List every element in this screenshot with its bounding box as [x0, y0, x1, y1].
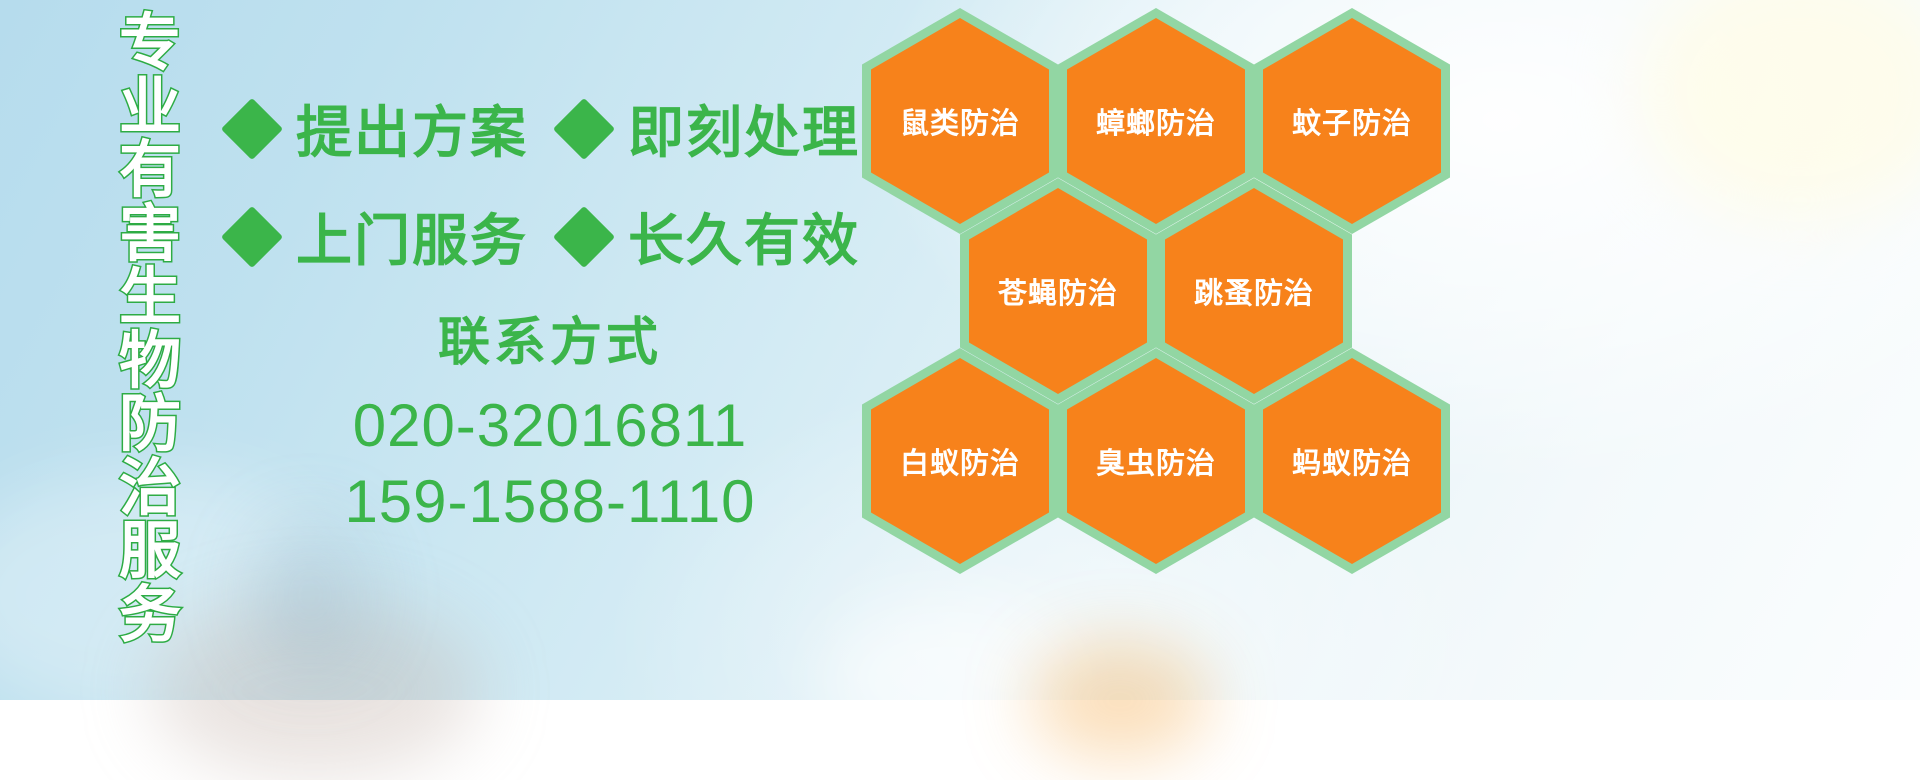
headline-char: 害: [119, 203, 181, 267]
service-label: 苍蝇防治: [998, 270, 1118, 312]
diamond-icon: [553, 205, 615, 267]
service-label: 蚂蚁防治: [1292, 440, 1412, 482]
headline-char: 防: [119, 393, 181, 457]
diamond-icon: [221, 97, 283, 159]
headline-char: 服: [119, 520, 181, 584]
service-label: 鼠类防治: [900, 100, 1020, 142]
phone-number-mobile[interactable]: 159-1588-1110: [300, 464, 800, 540]
feature-label: 即刻处理: [628, 88, 860, 169]
headline-char: 业: [119, 76, 181, 140]
background-blur-blob: [1640, 0, 1920, 220]
promotional-banner: 专 业 有 害 生 物 防 治 服 务 提出方案 即刻处理 上门服务 长久有效: [0, 0, 1920, 700]
feature-item: 长久有效: [562, 196, 860, 277]
headline-char: 务: [119, 584, 181, 648]
phone-number-landline[interactable]: 020-32016811: [300, 388, 800, 464]
service-label: 跳蚤防治: [1194, 270, 1314, 312]
service-label: 臭虫防治: [1096, 440, 1216, 482]
background-blur-blob: [1030, 640, 1210, 760]
headline-char: 生: [119, 266, 181, 330]
contact-block: 联系方式 020-32016811 159-1588-1110: [300, 312, 800, 540]
background-blur-blob: [820, 600, 1080, 760]
feature-item: 提出方案: [230, 88, 528, 169]
headline-char: 物: [119, 330, 181, 394]
service-hexagon-grid: 鼠类防治 蟑螂防治 蚊子防治 苍蝇防治 跳蚤防治 白蚁防治 臭虫防治 蚂蚁防治: [862, 8, 1462, 560]
headline-char: 有: [119, 139, 181, 203]
headline-char: 治: [119, 457, 181, 521]
service-label: 蚊子防治: [1292, 100, 1412, 142]
diamond-icon: [553, 97, 615, 159]
contact-heading: 联系方式: [300, 312, 800, 374]
diamond-icon: [221, 205, 283, 267]
feature-item: 上门服务: [230, 196, 528, 277]
feature-label: 上门服务: [296, 196, 528, 277]
service-label: 白蚁防治: [900, 440, 1020, 482]
background-blur-blob: [250, 520, 370, 670]
feature-label: 长久有效: [628, 196, 860, 277]
feature-item: 即刻处理: [562, 88, 860, 169]
vertical-headline: 专 业 有 害 生 物 防 治 服 务: [104, 12, 196, 647]
feature-row: 提出方案 即刻处理: [230, 88, 860, 169]
feature-row: 上门服务 长久有效: [230, 196, 860, 277]
service-label: 蟑螂防治: [1096, 100, 1216, 142]
background-blur-blob: [150, 600, 480, 780]
headline-char: 专: [119, 12, 181, 76]
feature-label: 提出方案: [296, 88, 528, 169]
